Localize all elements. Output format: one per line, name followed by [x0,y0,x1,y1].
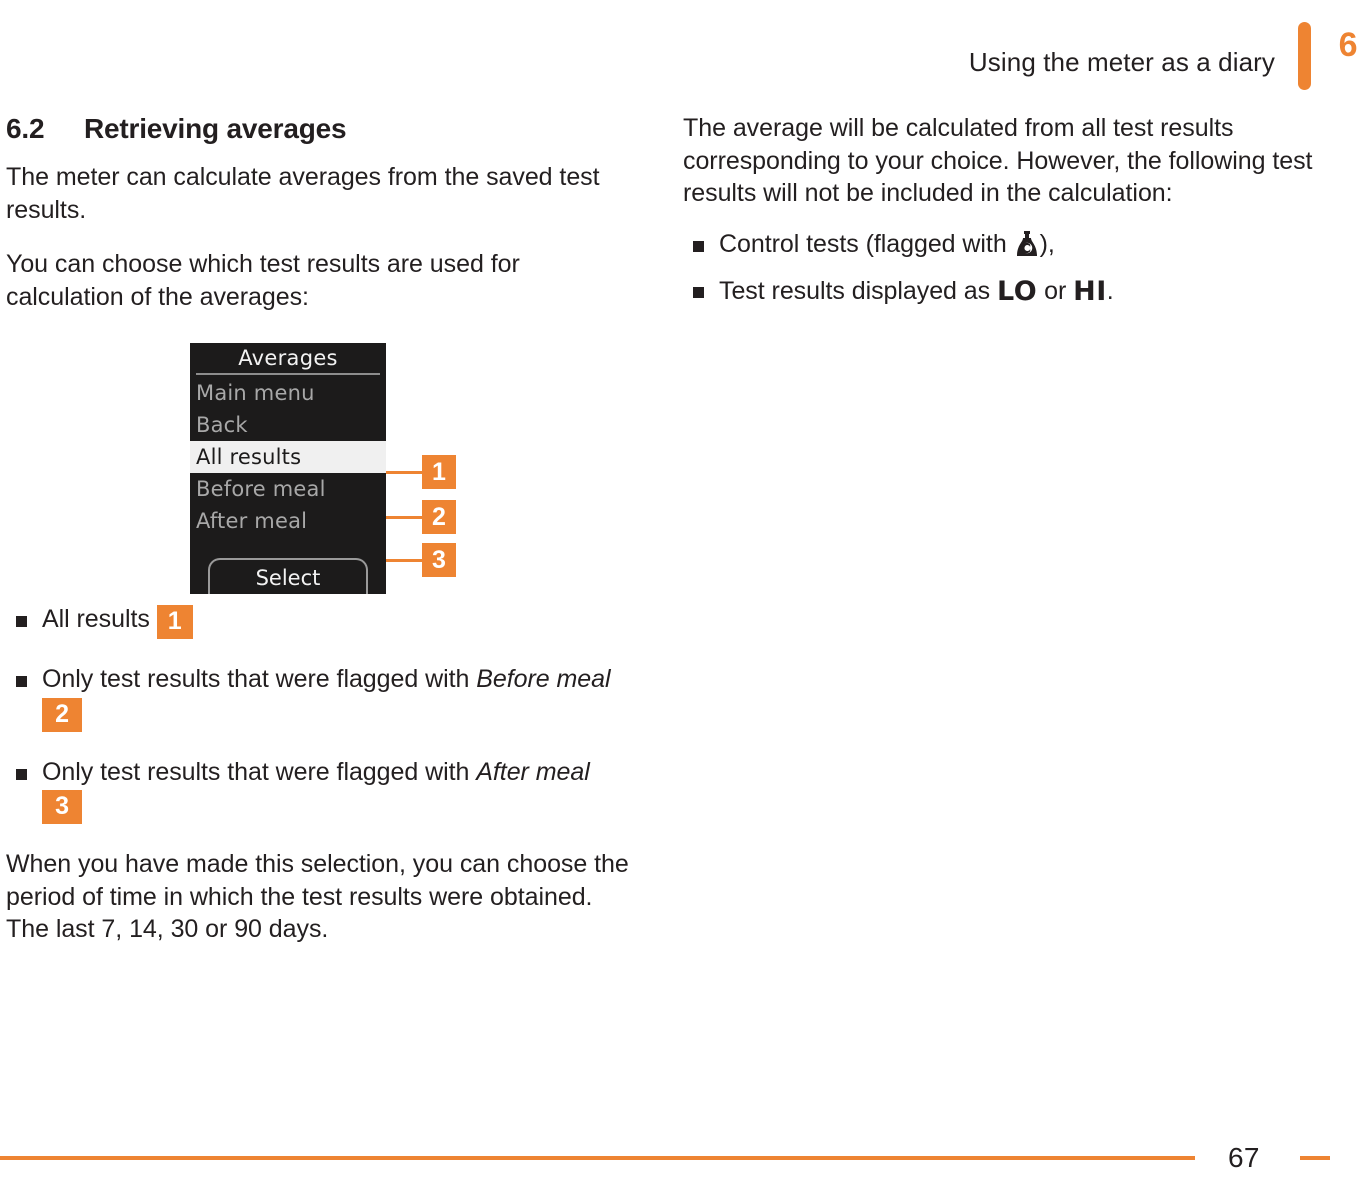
control-solution-bottle-icon [1015,231,1039,257]
selection-options-list: All results 1 Only test results that wer… [6,603,636,824]
bullet-text-all-results: All results [42,605,150,633]
callout-badge-3: 3 [42,790,82,824]
callout-leader-line-1 [386,471,422,474]
section-number: 6.2 [6,112,84,145]
lcd-indicator-lo: LO [997,276,1037,307]
callout-number-2: 2 [422,500,456,534]
bullet-text-after-meal-lead: Only test results that were flagged with [42,758,476,786]
lcd-menu-item-main-menu[interactable]: Main menu [190,377,386,409]
paragraph-when-you-have-made: When you have made this selection, you c… [6,848,636,946]
callout-leader-line-3 [386,559,422,562]
lcd-screen-figure: Averages Main menu Back All results Befo… [190,343,386,594]
page-header: Using the meter as a diary 6 [0,0,1371,108]
callout-2: 2 [386,500,456,534]
lcd-menu-item-all-results[interactable]: All results [190,441,386,473]
callout-badge-1: 1 [157,605,193,639]
callout-number-1: 1 [422,455,456,489]
list-item: Control tests (flagged with ), [683,228,1313,261]
list-item: Only test results that were flagged with… [6,663,636,732]
callout-leader-line-2 [386,516,422,519]
callout-badge-2: 2 [42,698,82,732]
callout-number-3: 3 [422,543,456,577]
bullet-italic-after-meal: After meal [476,758,589,786]
lcd-screen: Averages Main menu Back All results Befo… [190,343,386,594]
bullet-text-displayed-as-lead: Test results displayed as [719,277,997,305]
lcd-title-divider [196,373,380,375]
bullet-italic-before-meal: Before meal [476,665,610,693]
section-title: Retrieving averages [84,112,346,145]
page-number: 67 [1228,1142,1260,1174]
running-header-title: Using the meter as a diary [969,49,1275,75]
lcd-menu-item-back[interactable]: Back [190,409,386,441]
list-item: Test results displayed as LO or HI. [683,274,1313,309]
lcd-menu-item-after-meal[interactable]: After meal [190,505,386,537]
chapter-number: 6 [1339,28,1357,62]
section-heading: 6.2 Retrieving averages [6,112,636,145]
right-column: The average will be calculated from all … [683,112,1313,323]
bullet-text-before-meal-lead: Only test results that were flagged with [42,665,476,693]
list-item: All results 1 [6,603,636,639]
lcd-menu-item-before-meal[interactable]: Before meal [190,473,386,505]
excluded-results-list: Control tests (flagged with ), Test resu… [683,228,1313,310]
lcd-softkey-select[interactable]: Select [208,558,368,594]
paragraph-you-can-choose: You can choose which test results are us… [6,248,636,313]
lcd-indicator-hi: HI [1073,276,1107,307]
callout-1: 1 [386,455,456,489]
paragraph-meter-can-calculate: The meter can calculate averages from th… [6,161,636,226]
bullet-text-displayed-as-tail: . [1107,277,1114,305]
callout-3: 3 [386,543,456,577]
bullet-conjunction-or: or [1037,277,1073,305]
page-footer: 67 [0,1108,1371,1178]
bullet-text-control-tests-lead: Control tests (flagged with [719,230,1014,258]
footer-rule-left [0,1156,1195,1160]
footer-rule-right [1300,1156,1330,1160]
list-item: Only test results that were flagged with… [6,756,636,825]
lcd-title: Averages [190,343,386,373]
paragraph-average-calculated-from: The average will be calculated from all … [683,112,1313,210]
bullet-text-control-tests-tail: ), [1040,230,1055,258]
chapter-accent-bar [1298,22,1311,90]
